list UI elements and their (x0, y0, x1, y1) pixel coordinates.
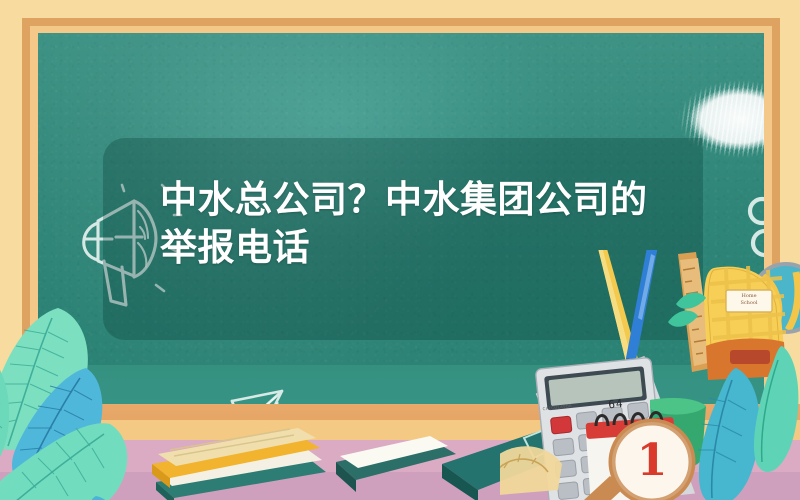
backpack-label-line2: School (726, 300, 772, 307)
poster-canvas: 中水总公司？中水集团公司的举报电话 (0, 0, 800, 500)
backpack-label-line1: Home (726, 293, 772, 300)
school-supplies-cluster: CALCULATOR 64 1 Home School (500, 250, 800, 500)
calculator-brand: CALCULATOR (542, 403, 572, 411)
calculator-value: 64 (608, 397, 625, 412)
backpack-label: Home School (726, 292, 772, 310)
magnifier-number: 1 (612, 432, 692, 490)
magnifier-number-wrap: 1 (612, 432, 692, 490)
